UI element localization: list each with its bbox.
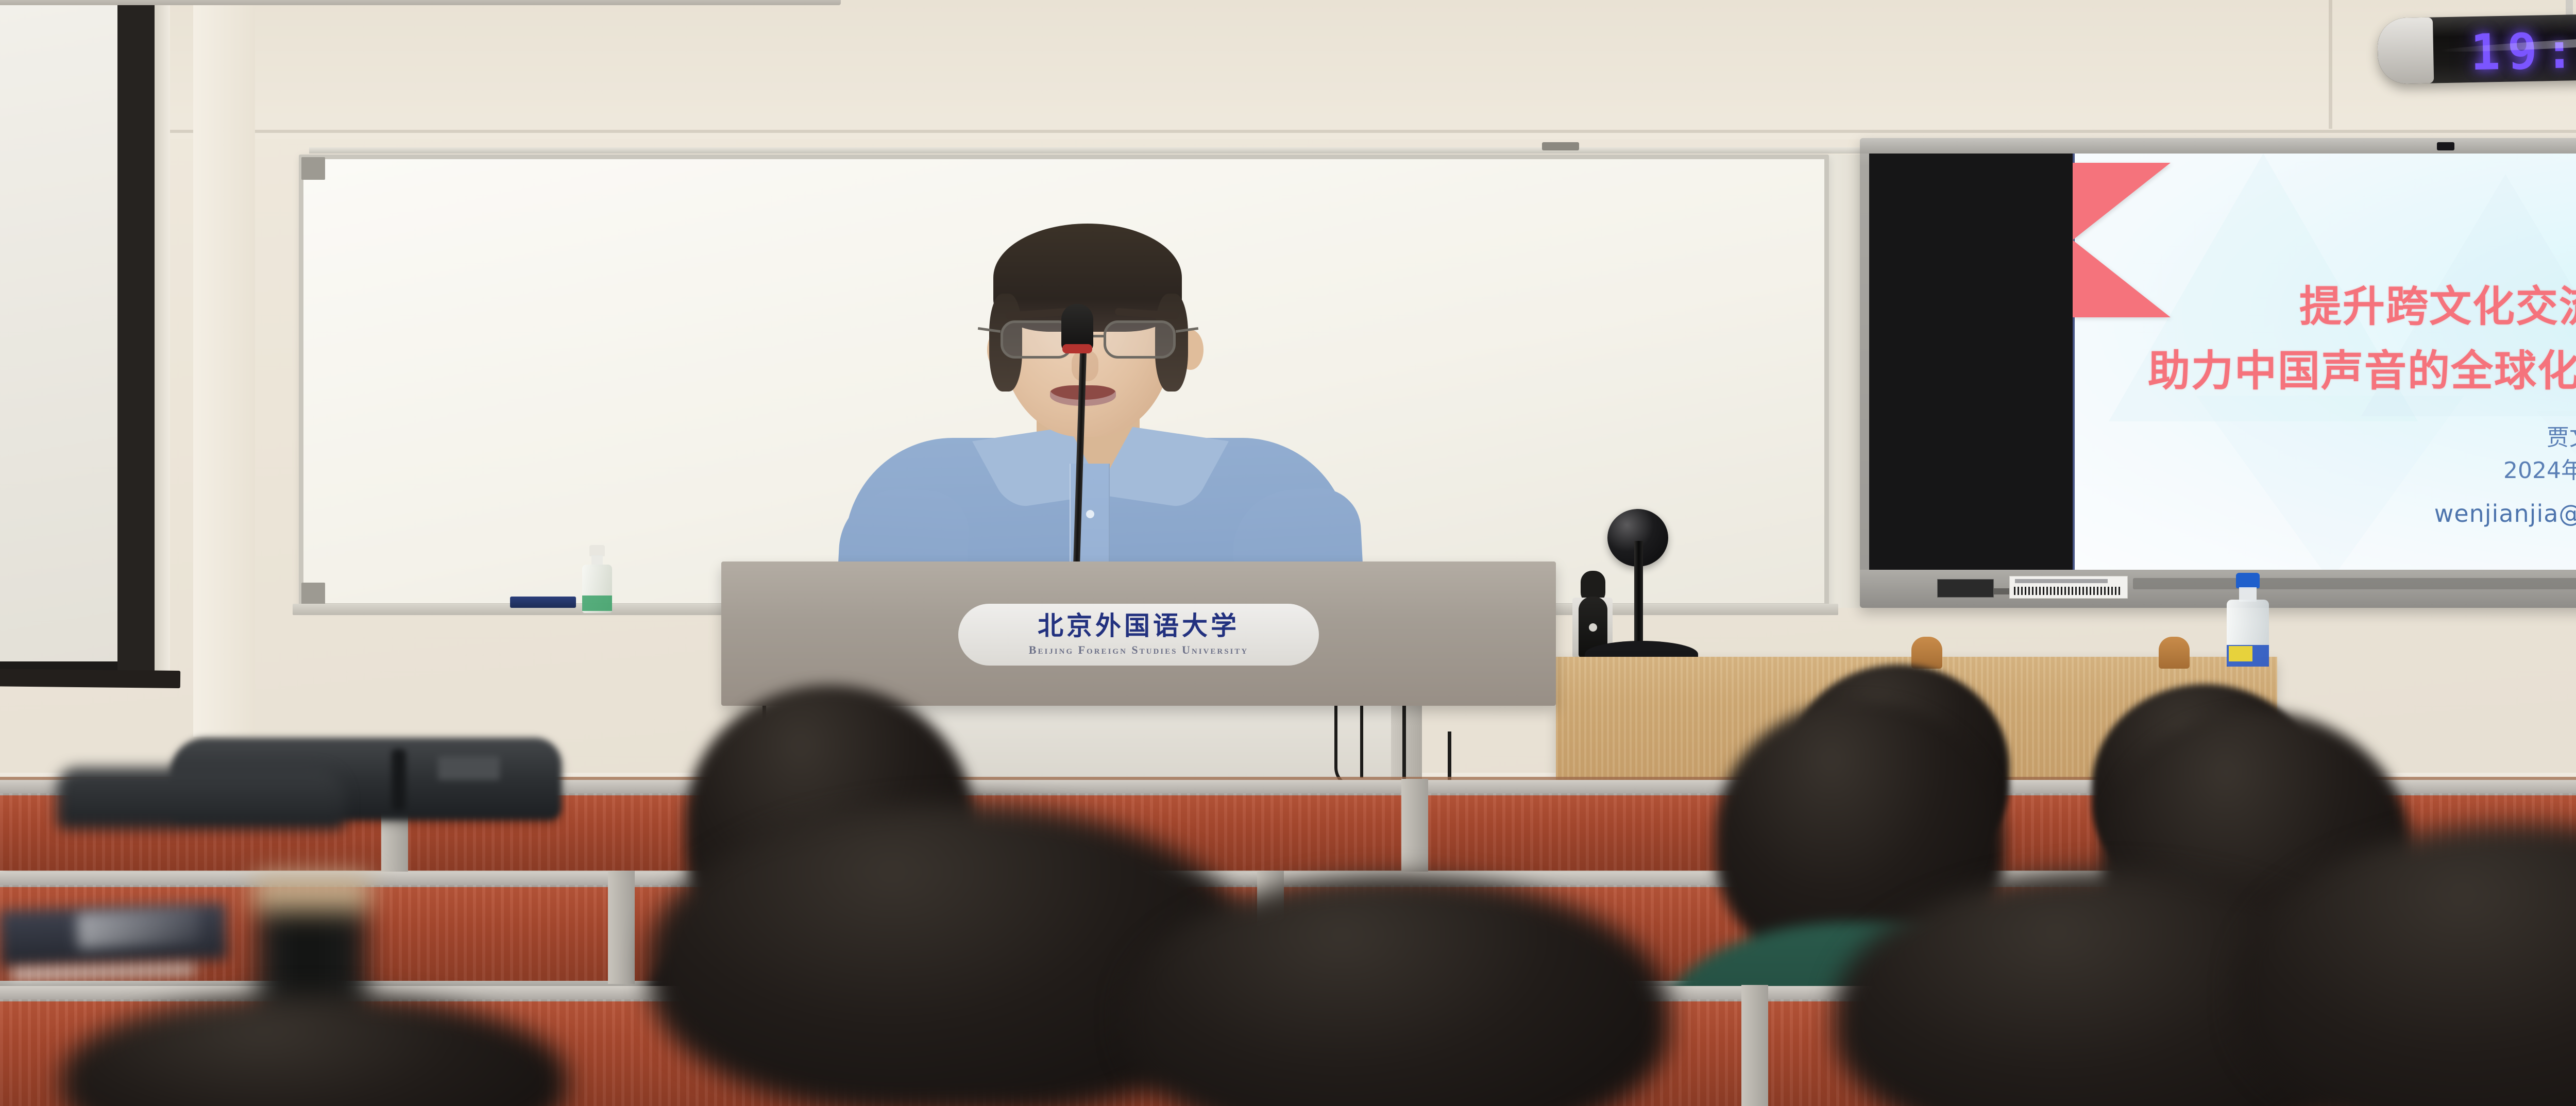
display-asset-label [2009,576,2128,599]
ceiling-trim-line [0,130,2576,133]
slide-title-line1: 提升跨文化交流能力与素质， [2073,275,2576,339]
audience-head [2236,824,2576,1106]
audience-person-foreground [1123,876,1669,1106]
lectern-podium: 北京外国语大学 Beijing Foreign Studies Universi… [721,561,1556,706]
bench-post [608,871,635,984]
audience-person-foreground [62,994,567,1106]
flat-panel-display[interactable]: 提升跨文化交流能力与素质， 助力中国声音的全球化、区域化、分众化表达 贾文键 2… [1860,138,2576,608]
clock-endcap-left [2377,18,2434,84]
wall-seam-right [2329,0,2332,129]
wooden-knob [1911,637,1942,669]
slide-email: wenjianjia@bfsu.edu.cn [2073,500,2576,528]
lecture-hall-photo: 19:32 提升跨文化交流能力与素质， 助力中国声音的全球化、区域化、分众化表达 [0,0,2576,1106]
whiteboard-eraser[interactable] [510,597,576,608]
wooden-knob [2159,637,2190,669]
whiteboard-corner-top-left [301,157,325,180]
wall-panel-strip [193,5,255,737]
bottle-label [582,595,612,611]
slide-date: 2024年6月3日 [2073,454,2576,487]
slide-presenter-name: 贾文键 [2073,421,2576,454]
speaker-person [804,222,1396,582]
bench-post [1401,779,1428,873]
slide-title: 提升跨文化交流能力与素质， 助力中国声音的全球化、区域化、分众化表达 [2073,275,2576,403]
water-bottle-cabinet[interactable] [2226,573,2270,667]
podium-nameplate-english: Beijing Foreign Studies University [1029,643,1248,657]
eyeglass-lens-right [1104,320,1176,359]
asset-label-barcode [2014,587,2122,595]
display-bottom-bezel [1860,570,2576,608]
bench-post [1741,985,1768,1106]
asset-label-text [2015,579,2108,583]
projection-screen-bottom-bar [0,669,180,688]
slide-title-line2: 助力中国声音的全球化、区域化、分众化表达 [2073,339,2576,404]
bottle-cap [589,545,605,556]
thermos-lid [253,875,370,913]
digital-clock: 19:32 [2377,10,2576,84]
display-port-panel [1937,579,1994,598]
audience-head [1123,876,1669,1106]
whiteboard-clip [1542,142,1579,150]
desk-microphone-indicator [1589,623,1597,632]
water-bottle-whiteboard-ledge[interactable] [581,545,613,613]
projection-screen-edge [155,0,170,680]
podium-nameplate: 北京外国语大学 Beijing Foreign Studies Universi… [958,604,1319,666]
audience-person-foreground [2236,824,2576,1106]
podium-top-edge [0,0,841,5]
podium-microphone-ring [1062,344,1092,353]
display-camera-icon [2437,142,2454,150]
backpack-strap [392,749,406,811]
display-top-bezel [1860,138,2576,154]
glasses-case-reflection [76,907,201,949]
bottle-cap [2236,573,2260,588]
presentation-slide: 提升跨文化交流能力与素质， 助力中国声音的全球化、区域化、分众化表达 贾文键 2… [2073,154,2576,571]
backpack-secondary[interactable] [57,768,345,829]
shirt-button [1086,510,1094,518]
display-screen-area: 提升跨文化交流能力与素质， 助力中国声音的全球化、区域化、分众化表达 贾文键 2… [1869,154,2576,571]
display-speaker-grille [2133,578,2576,589]
podium-nameplate-chinese: 北京外国语大学 [1038,613,1240,639]
backpack-patch [438,756,500,780]
audience-head [62,994,567,1106]
upper-wall [0,0,2576,139]
bottle-label-accent [2229,646,2252,661]
slide-presenter-block: 贾文键 2024年6月3日 [2073,421,2576,487]
whiteboard-corner-bottom-left [301,583,325,605]
